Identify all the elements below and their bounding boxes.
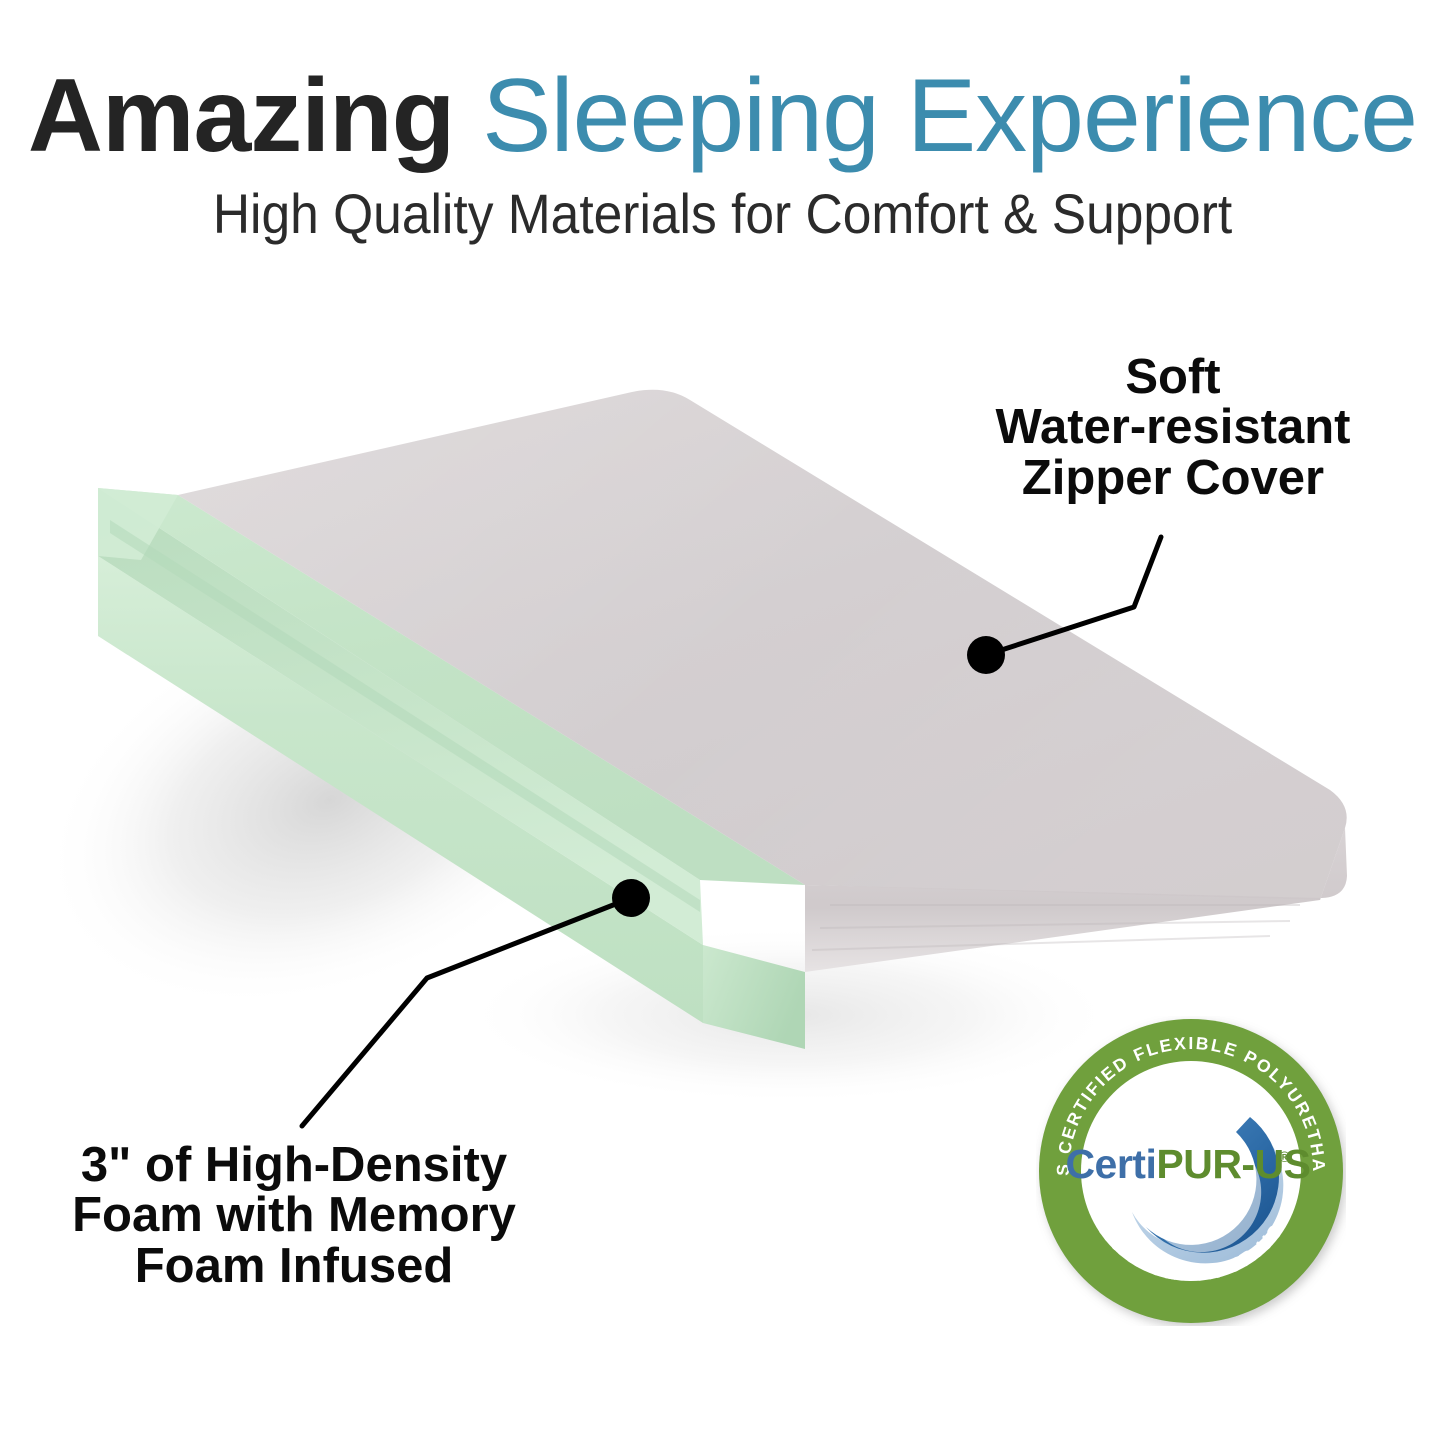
foam-core-layer (98, 488, 805, 1049)
infographic-canvas: Amazing Sleeping Experience High Quality… (0, 0, 1445, 1445)
page-title-strong: Amazing (28, 58, 454, 174)
leader-dot-cover (967, 636, 1005, 674)
callout-foam-core-line-1: 3" of High-Density (14, 1140, 574, 1190)
callout-foam-core-line-3: Foam Infused (14, 1241, 574, 1291)
certipur-us-badge: CONTAINS CERTIFIED FLEXIBLE POLYURETHANE… (1036, 1016, 1346, 1326)
callout-foam-core-line-2: Foam with Memory (14, 1190, 574, 1240)
page-title-accent: Sleeping Experience (482, 58, 1417, 174)
callout-foam-core: 3" of High-Density Foam with Memory Foam… (14, 1140, 574, 1291)
mattress-cover-side-face (805, 828, 1349, 900)
cover-seam-lines (812, 905, 1300, 950)
leader-line-cover (967, 537, 1161, 674)
mattress-cover-front-wall (805, 828, 1348, 900)
callout-zipper-cover-line-2: Water-resistant (903, 402, 1443, 452)
leader-line-foam (302, 879, 650, 1126)
foam-bevel-face (98, 488, 703, 945)
badge-logotype: CertiPUR-US ® (1065, 1141, 1310, 1187)
foam-groove-highlight (110, 520, 700, 912)
leader-dot-foam (612, 879, 650, 917)
callout-zipper-cover-line-3: Zipper Cover (903, 453, 1443, 503)
callout-zipper-cover: Soft Water-resistant Zipper Cover (903, 352, 1443, 503)
mattress-cover-edge (805, 828, 1347, 972)
page-subtitle: High Quality Materials for Comfort & Sup… (58, 186, 1387, 242)
foam-front-face (98, 556, 703, 1023)
foam-end-face (703, 945, 805, 1049)
badge-logotype-part1: Certi (1065, 1141, 1156, 1187)
callout-zipper-cover-line-1: Soft (903, 352, 1443, 402)
page-title: Amazing Sleeping Experience (0, 64, 1445, 168)
badge-logotype-trademark: ® (1279, 1149, 1290, 1166)
drop-shadow (0, 511, 1120, 1105)
foam-left-cap (98, 488, 178, 560)
svg-text:CertiPUR-US: CertiPUR-US (1065, 1141, 1310, 1187)
foam-top-face (98, 488, 805, 885)
